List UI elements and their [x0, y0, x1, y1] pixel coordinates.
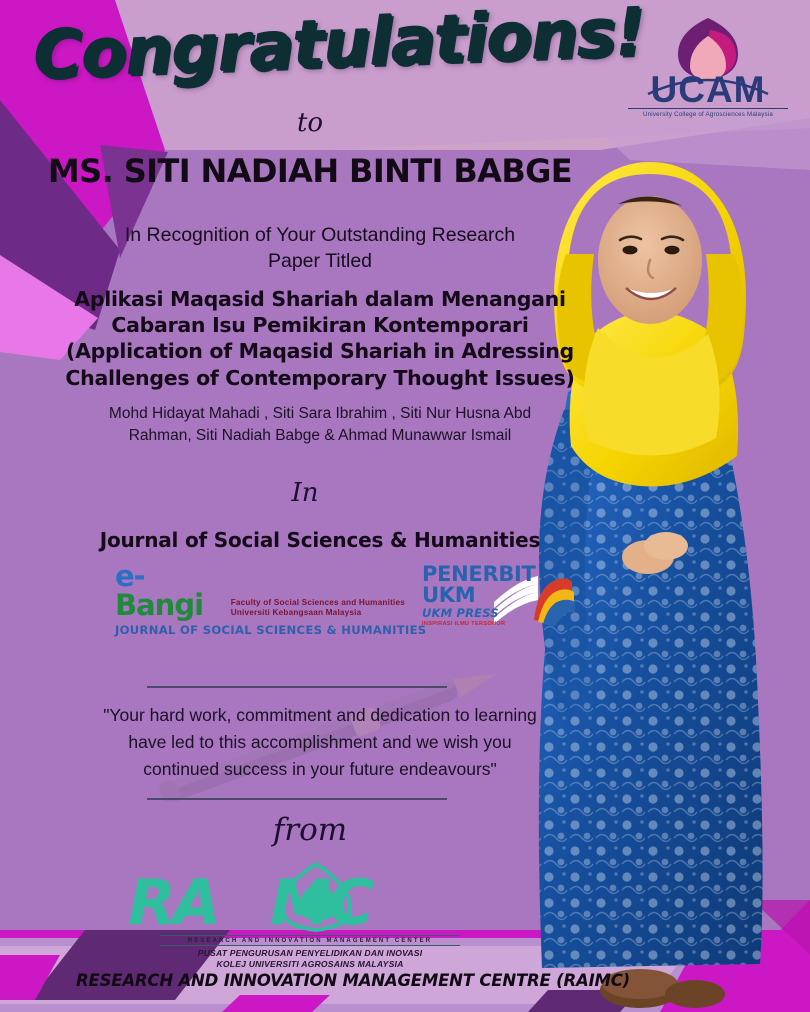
raimc-wordmark-icon: RA MC — [120, 862, 500, 934]
authors-line-1: Mohd Hidayat Mahadi , Siti Sara Ibrahim … — [60, 403, 580, 425]
raimc-subtitle-my-line-2: KOLEJ UNIVERSITI AGROSAINS MALAYSIA — [120, 959, 500, 970]
journal-name: Journal of Social Sciences & Humanities — [60, 528, 580, 552]
paper-title-line-2: Cabaran Isu Pemikiran Kontemporari — [55, 312, 585, 338]
paper-title-line-3: (Application of Maqasid Shariah in Adres… — [55, 338, 585, 364]
raimc-subtitle-my: PUSAT PENGURUSAN PENYELIDIKAN DAN INOVAS… — [120, 948, 500, 969]
ebangi-name: Bangi — [115, 588, 203, 622]
to-label: to — [0, 108, 620, 138]
ucam-wordmark: UCAM — [628, 72, 788, 107]
paper-title: Aplikasi Maqasid Shariah dalam Menangani… — [55, 286, 585, 391]
footer-organisation: RESEARCH AND INNOVATION MANAGEMENT CENTR… — [76, 971, 630, 990]
penerbit-line-1: PENERBIT — [422, 564, 536, 585]
raimc-logo: RA MC RESEARCH AND INNOVATION MANAGEMENT… — [120, 862, 500, 969]
quote-text: "Your hard work, commitment and dedicati… — [55, 702, 585, 783]
paper-title-line-4: Challenges of Contemporary Thought Issue… — [55, 365, 585, 391]
journal-logo-row: e-Bangi Faculty of Social Sciences and H… — [60, 562, 580, 630]
penerbit-line-4: INSPIRASI ILMU TERSOHOR — [422, 621, 536, 627]
in-label: In — [0, 478, 610, 508]
quote-line-3: continued success in your future endeavo… — [55, 756, 585, 783]
svg-text:RA: RA — [128, 866, 218, 934]
ebangi-tagline-1: Faculty of Social Sciences and Humanitie… — [231, 598, 405, 608]
author-list: Mohd Hidayat Mahadi , Siti Sara Ibrahim … — [60, 403, 580, 448]
ucam-logo: UCAM University College of Agrosciences … — [628, 14, 788, 118]
raimc-subtitle-my-line-1: PUSAT PENGURUSAN PENYELIDIKAN DAN INOVAS… — [120, 948, 500, 959]
recognition-line-2: Paper Titled — [60, 248, 580, 274]
penerbit-line-3: UKM PRESS — [422, 606, 536, 620]
recognition-text: In Recognition of Your Outstanding Resea… — [60, 222, 580, 275]
congratulations-poster: UCAM University College of Agrosciences … — [0, 0, 810, 1012]
raimc-subtitle-en: RESEARCH AND INNOVATION MANAGEMENT CENTE… — [160, 935, 460, 946]
authors-line-2: Rahman, Siti Nadiah Babge & Ahmad Munaww… — [60, 425, 580, 447]
penerbit-ukm-logo: PENERBIT UKM UKM PRESS INSPIRASI ILMU TE… — [422, 564, 572, 626]
svg-text:MC: MC — [270, 866, 374, 934]
quote-rule-top — [147, 686, 447, 688]
quote-line-2: have led to this accomplishment and we w… — [55, 729, 585, 756]
ebangi-footer: JOURNAL OF SOCIAL SCIENCES & HUMANITIES — [115, 623, 405, 637]
paper-title-line-1: Aplikasi Maqasid Shariah dalam Menangani — [55, 286, 585, 312]
recognition-line-1: In Recognition of Your Outstanding Resea… — [60, 222, 580, 248]
ebangi-logo: e-Bangi Faculty of Social Sciences and H… — [115, 562, 405, 637]
recipient-name: MS. SITI NADIAH BINTI BABGE — [0, 152, 620, 190]
ebangi-tagline-2: Universiti Kebangsaan Malaysia — [231, 608, 405, 618]
quote-line-1: "Your hard work, commitment and dedicati… — [55, 702, 585, 729]
quote-rule-bottom — [147, 798, 447, 800]
quote-block: "Your hard work, commitment and dedicati… — [55, 672, 585, 802]
penerbit-line-2: UKM — [422, 585, 536, 606]
from-label: from — [0, 812, 620, 848]
